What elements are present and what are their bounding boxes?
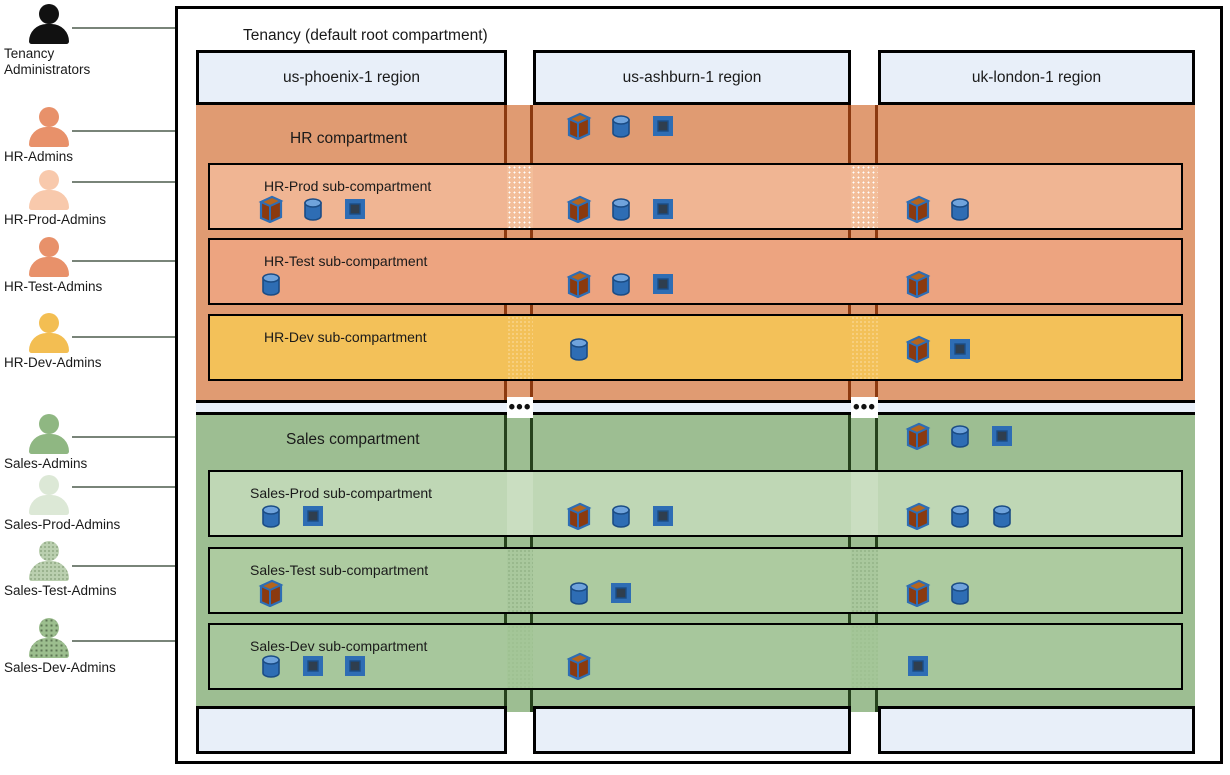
network-square-icon bbox=[650, 193, 676, 223]
region-gap-shade bbox=[851, 549, 878, 612]
compute-cube-icon bbox=[905, 333, 931, 363]
database-cylinder-icon bbox=[566, 333, 592, 363]
admin-group-label: Sales-Admins bbox=[0, 456, 178, 472]
network-square-icon bbox=[905, 650, 931, 680]
database-cylinder-icon bbox=[258, 500, 284, 530]
compartment-architecture-diagram: Tenancy Administrators HR-Admins HR-Prod… bbox=[0, 0, 1230, 775]
region-footer-uk-london-1 bbox=[878, 706, 1195, 754]
network-square-icon bbox=[650, 500, 676, 530]
compute-cube-icon bbox=[258, 193, 284, 223]
network-square-icon bbox=[300, 650, 326, 680]
hr-compartment-title: HR compartment bbox=[290, 130, 407, 148]
admin-group-hr-dev-admins[interactable]: HR-Dev-Admins bbox=[0, 313, 178, 371]
region-label: uk-london-1 region bbox=[972, 69, 1101, 87]
compute-cube-icon bbox=[566, 110, 592, 140]
admin-group-label: Tenancy Administrators bbox=[0, 46, 178, 78]
region-separator-strip bbox=[196, 400, 1195, 415]
network-square-icon bbox=[650, 268, 676, 298]
database-cylinder-icon bbox=[608, 268, 634, 298]
compute-cube-icon bbox=[258, 577, 284, 607]
admin-group-sales-prod-admins[interactable]: Sales-Prod-Admins bbox=[0, 475, 178, 533]
network-square-icon bbox=[947, 333, 973, 363]
person-icon bbox=[26, 4, 72, 44]
admin-group-sales-test-admins[interactable]: Sales-Test-Admins bbox=[0, 541, 178, 599]
admin-group-label: HR-Prod-Admins bbox=[0, 212, 178, 228]
region-gap-shade bbox=[851, 472, 878, 535]
region-footer-us-phoenix-1 bbox=[196, 706, 507, 754]
region-gap-shade bbox=[851, 316, 878, 379]
person-icon bbox=[26, 107, 72, 147]
compute-cube-icon bbox=[905, 500, 931, 530]
region-gap-shade bbox=[507, 165, 533, 228]
sales-compartment-title: Sales compartment bbox=[286, 431, 420, 449]
region-gap-shade bbox=[507, 625, 533, 688]
network-square-icon bbox=[342, 193, 368, 223]
admin-groups-column: Tenancy Administrators HR-Admins HR-Prod… bbox=[0, 0, 178, 775]
ellipsis-marker: ••• bbox=[851, 397, 878, 418]
database-cylinder-icon bbox=[947, 500, 973, 530]
compute-cube-icon bbox=[905, 268, 931, 298]
database-cylinder-icon bbox=[608, 110, 634, 140]
region-gap-shade bbox=[851, 625, 878, 688]
hr-dev-subcompartment bbox=[208, 314, 1183, 381]
region-gap-shade bbox=[851, 165, 878, 228]
region-footer-us-ashburn-1 bbox=[533, 706, 851, 754]
sales-test-subcompartment bbox=[208, 547, 1183, 614]
compute-cube-icon bbox=[566, 193, 592, 223]
database-cylinder-icon bbox=[608, 500, 634, 530]
region-label: us-ashburn-1 region bbox=[623, 69, 762, 87]
hr-test-subcompartment bbox=[208, 238, 1183, 305]
admin-group-label: Sales-Test-Admins bbox=[0, 583, 178, 599]
sales-prod-title: Sales-Prod sub-compartment bbox=[250, 485, 432, 501]
compute-cube-icon bbox=[566, 650, 592, 680]
database-cylinder-icon bbox=[947, 193, 973, 223]
hr-prod-title: HR-Prod sub-compartment bbox=[264, 178, 431, 194]
admin-group-label: HR-Dev-Admins bbox=[0, 355, 178, 371]
network-square-icon bbox=[300, 500, 326, 530]
region-header-uk-london-1: uk-london-1 region bbox=[878, 50, 1195, 105]
person-icon bbox=[26, 414, 72, 454]
sales-test-title: Sales-Test sub-compartment bbox=[250, 562, 428, 578]
region-header-us-phoenix-1: us-phoenix-1 region bbox=[196, 50, 507, 105]
region-gap-shade bbox=[507, 549, 533, 612]
page-title: Tenancy (default root compartment) bbox=[243, 27, 488, 45]
database-cylinder-icon bbox=[258, 650, 284, 680]
database-cylinder-icon bbox=[608, 193, 634, 223]
network-square-icon bbox=[342, 650, 368, 680]
admin-group-label: Sales-Dev-Admins bbox=[0, 660, 178, 676]
person-icon bbox=[26, 618, 72, 658]
compute-cube-icon bbox=[905, 420, 931, 450]
admin-group-label: HR-Admins bbox=[0, 149, 178, 165]
database-cylinder-icon bbox=[947, 420, 973, 450]
person-icon bbox=[26, 313, 72, 353]
compute-cube-icon bbox=[905, 577, 931, 607]
database-cylinder-icon bbox=[258, 268, 284, 298]
region-label: us-phoenix-1 region bbox=[283, 69, 420, 87]
admin-group-sales-dev-admins[interactable]: Sales-Dev-Admins bbox=[0, 618, 178, 676]
person-icon bbox=[26, 237, 72, 277]
tenancy-root-compartment: Tenancy (default root compartment) bbox=[175, 6, 1223, 764]
admin-group-hr-prod-admins[interactable]: HR-Prod-Admins bbox=[0, 170, 178, 228]
admin-group-sales-admins[interactable]: Sales-Admins bbox=[0, 414, 178, 472]
person-icon bbox=[26, 170, 72, 210]
network-square-icon bbox=[650, 110, 676, 140]
admin-group-hr-test-admins[interactable]: HR-Test-Admins bbox=[0, 237, 178, 295]
compute-cube-icon bbox=[905, 193, 931, 223]
admin-group-label: Sales-Prod-Admins bbox=[0, 517, 178, 533]
network-square-icon bbox=[989, 420, 1015, 450]
person-icon bbox=[26, 541, 72, 581]
person-icon bbox=[26, 475, 72, 515]
database-cylinder-icon bbox=[300, 193, 326, 223]
network-square-icon bbox=[608, 577, 634, 607]
region-header-us-ashburn-1: us-ashburn-1 region bbox=[533, 50, 851, 105]
compute-cube-icon bbox=[566, 500, 592, 530]
database-cylinder-icon bbox=[989, 500, 1015, 530]
admin-group-tenancy-administrators[interactable]: Tenancy Administrators bbox=[0, 4, 178, 78]
sales-prod-subcompartment bbox=[208, 470, 1183, 537]
compute-cube-icon bbox=[566, 268, 592, 298]
database-cylinder-icon bbox=[566, 577, 592, 607]
admin-group-hr-admins[interactable]: HR-Admins bbox=[0, 107, 178, 165]
region-compartment-grid: us-phoenix-1 region us-ashburn-1 region … bbox=[178, 50, 1220, 760]
hr-dev-title: HR-Dev sub-compartment bbox=[264, 329, 427, 345]
admin-group-label: HR-Test-Admins bbox=[0, 279, 178, 295]
ellipsis-marker: ••• bbox=[507, 397, 533, 418]
region-gap-shade bbox=[507, 472, 533, 535]
region-gap-shade bbox=[507, 316, 533, 379]
hr-test-title: HR-Test sub-compartment bbox=[264, 253, 427, 269]
database-cylinder-icon bbox=[947, 577, 973, 607]
